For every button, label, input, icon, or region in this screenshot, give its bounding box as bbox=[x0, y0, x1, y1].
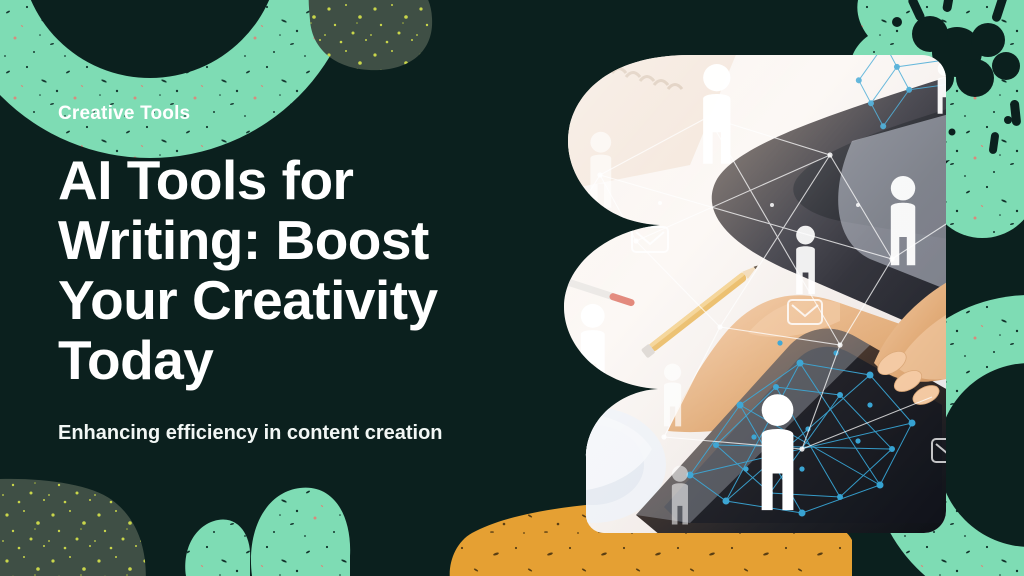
photo-content bbox=[540, 45, 960, 535]
slide-canvas: Creative Tools AI Tools for Writing: Boo… bbox=[0, 0, 1024, 576]
sage-blob-top bbox=[309, 0, 432, 70]
mint-blob-bottom-left bbox=[185, 488, 350, 576]
eyebrow-label: Creative Tools bbox=[58, 104, 528, 125]
sage-blob-bottom-left bbox=[0, 479, 146, 576]
page-title: AI Tools for Writing: Boost Your Creativ… bbox=[58, 151, 518, 391]
hero-image bbox=[540, 45, 960, 535]
text-block: Creative Tools AI Tools for Writing: Boo… bbox=[58, 104, 528, 445]
subtitle: Enhancing efficiency in content creation bbox=[58, 421, 528, 445]
envelope-icon bbox=[550, 483, 584, 507]
